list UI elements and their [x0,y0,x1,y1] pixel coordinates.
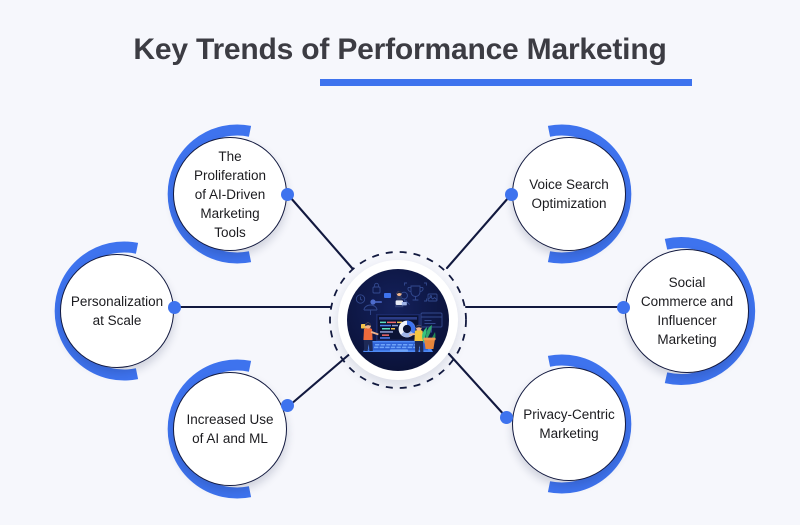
performance-marketing-illustration [347,269,449,371]
lock-icon [373,287,380,293]
central-hub [322,244,474,396]
node-face-privacy[interactable]: Privacy-Centric Marketing [512,367,626,481]
trophy-icon [405,283,427,301]
node-connector-dot-personalization [168,301,181,314]
node-label-ai-tools: The Proliferation of AI-Driven Marketing… [184,147,276,242]
code-window-icon [421,313,442,332]
node-label-personalization: Personalization at Scale [61,292,173,330]
node-face-personalization[interactable]: Personalization at Scale [60,254,174,368]
image-icon [428,294,437,301]
key-icon [370,299,382,304]
hub-disc [347,269,449,371]
node-privacy-centric-marketing[interactable]: Privacy-Centric Marketing [499,354,639,494]
node-face-ai-tools[interactable]: The Proliferation of AI-Driven Marketing… [173,137,287,251]
node-face-social-commerce[interactable]: Social Commerce and Influencer Marketing [625,249,749,373]
chip-blue [384,293,391,298]
node-face-voice-search[interactable]: Voice Search Optimization [512,137,626,251]
node-connector-dot-ai-ml [281,399,294,412]
node-connector-dot-privacy [500,411,513,424]
node-connector-dot-ai-tools [281,188,294,201]
node-label-ai-ml: Increased Use of AI and ML [176,410,283,448]
node-label-social-commerce: Social Commerce and Influencer Marketing [631,273,743,349]
node-label-privacy: Privacy-Centric Marketing [513,405,625,443]
node-connector-dot-social-commerce [617,301,630,314]
cart-icon [364,305,377,315]
node-face-ai-ml[interactable]: Increased Use of AI and ML [173,372,287,486]
infographic-canvas: Key Trends of Performance Marketing [0,0,800,525]
node-connector-dot-voice-search [505,188,518,201]
node-label-voice-search: Voice Search Optimization [519,175,619,213]
node-increased-use-of-ai-and-ml[interactable]: Increased Use of AI and ML [160,359,300,499]
